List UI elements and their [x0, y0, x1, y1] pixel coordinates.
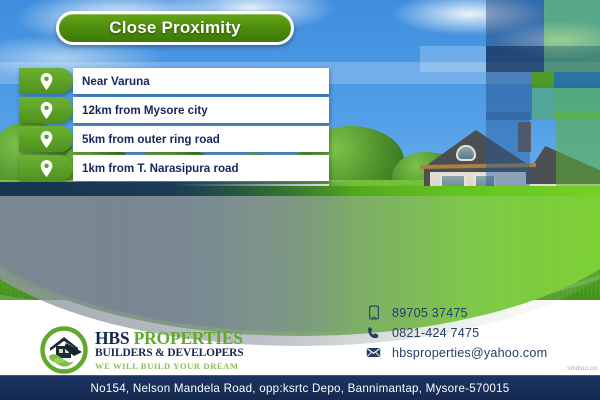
address-bar: No154, Nelson Mandela Road, opp:ksrtc De…: [0, 375, 600, 400]
envelope-icon: [366, 345, 381, 360]
page-title-label: Close Proximity: [109, 18, 241, 38]
list-item-icon-tab: [19, 68, 73, 94]
list-item-label: 1km from T. Narasipura road: [82, 162, 239, 175]
mosaic-tile: [486, 46, 544, 72]
logo-tagline: WE WILL BUILD YOUR DREAM: [95, 362, 244, 371]
mosaic-tile: [420, 46, 486, 72]
house-dormer-window: [456, 145, 476, 161]
list-item[interactable]: 5km from outer ring road: [19, 126, 329, 152]
list-item-label: 12km from Mysore city: [82, 104, 208, 117]
list-item-icon-tab: [19, 126, 73, 152]
company-logo: HBS PROPERTIES BUILDERS & DEVELOPERS WE …: [40, 326, 244, 374]
mosaic-tile: [544, 0, 600, 46]
map-pin-icon: [40, 160, 53, 177]
contact-value-mobile: 89705 37475: [392, 306, 468, 320]
page-title: Close Proximity: [56, 11, 294, 45]
watermark: smdsui.co: [567, 366, 597, 372]
list-item[interactable]: 1km from T. Narasipura road: [19, 155, 329, 181]
map-pin-icon: [40, 131, 53, 148]
list-item-bar: 1km from T. Narasipura road: [73, 155, 329, 181]
contact-row-landline[interactable]: 0821-424 7475: [366, 325, 547, 340]
list-item-label: Near Varuna: [82, 75, 150, 88]
contact-value-email: hbsproperties@yahoo.com: [392, 346, 547, 360]
list-item[interactable]: Near Varuna: [19, 68, 329, 94]
mobile-phone-icon: [366, 305, 381, 320]
mosaic-tile: [532, 72, 554, 88]
list-item-bar: 12km from Mysore city: [73, 97, 329, 123]
flyer-canvas: It is a comfortable feeling to know that…: [0, 0, 600, 400]
telephone-handset-icon: [366, 325, 381, 340]
list-item-bar: 5km from outer ring road: [73, 126, 329, 152]
list-item-icon-tab: [19, 155, 73, 181]
list-item-label: 5km from outer ring road: [82, 133, 220, 146]
logo-name-secondary: PROPERTIES: [134, 328, 243, 348]
logo-subtitle: BUILDERS & DEVELOPERS: [95, 348, 244, 359]
contact-block: 89705 37475 0821-424 7475 hbsproperties@…: [366, 305, 547, 360]
list-item-icon-tab: [19, 97, 73, 123]
logo-mark-svg: [40, 326, 88, 374]
mosaic-tile: [544, 46, 600, 72]
contact-row-email[interactable]: hbsproperties@yahoo.com: [366, 345, 547, 360]
list-item[interactable]: 12km from Mysore city: [19, 97, 329, 123]
map-pin-icon: [40, 102, 53, 119]
house-handshake-logo-icon: [40, 326, 88, 374]
mosaic-tile: [486, 0, 544, 46]
logo-name-primary: HBS: [95, 328, 129, 348]
contact-row-mobile[interactable]: 89705 37475: [366, 305, 547, 320]
address-text: No154, Nelson Mandela Road, opp:ksrtc De…: [90, 382, 509, 395]
map-pin-icon: [40, 73, 53, 90]
list-item-bar: Near Varuna: [73, 68, 329, 94]
logo-wordmark: HBS PROPERTIES BUILDERS & DEVELOPERS WE …: [95, 330, 244, 371]
logo-name-line: HBS PROPERTIES: [95, 330, 244, 348]
mosaic-tile: [554, 72, 600, 88]
contact-value-landline: 0821-424 7475: [392, 326, 479, 340]
